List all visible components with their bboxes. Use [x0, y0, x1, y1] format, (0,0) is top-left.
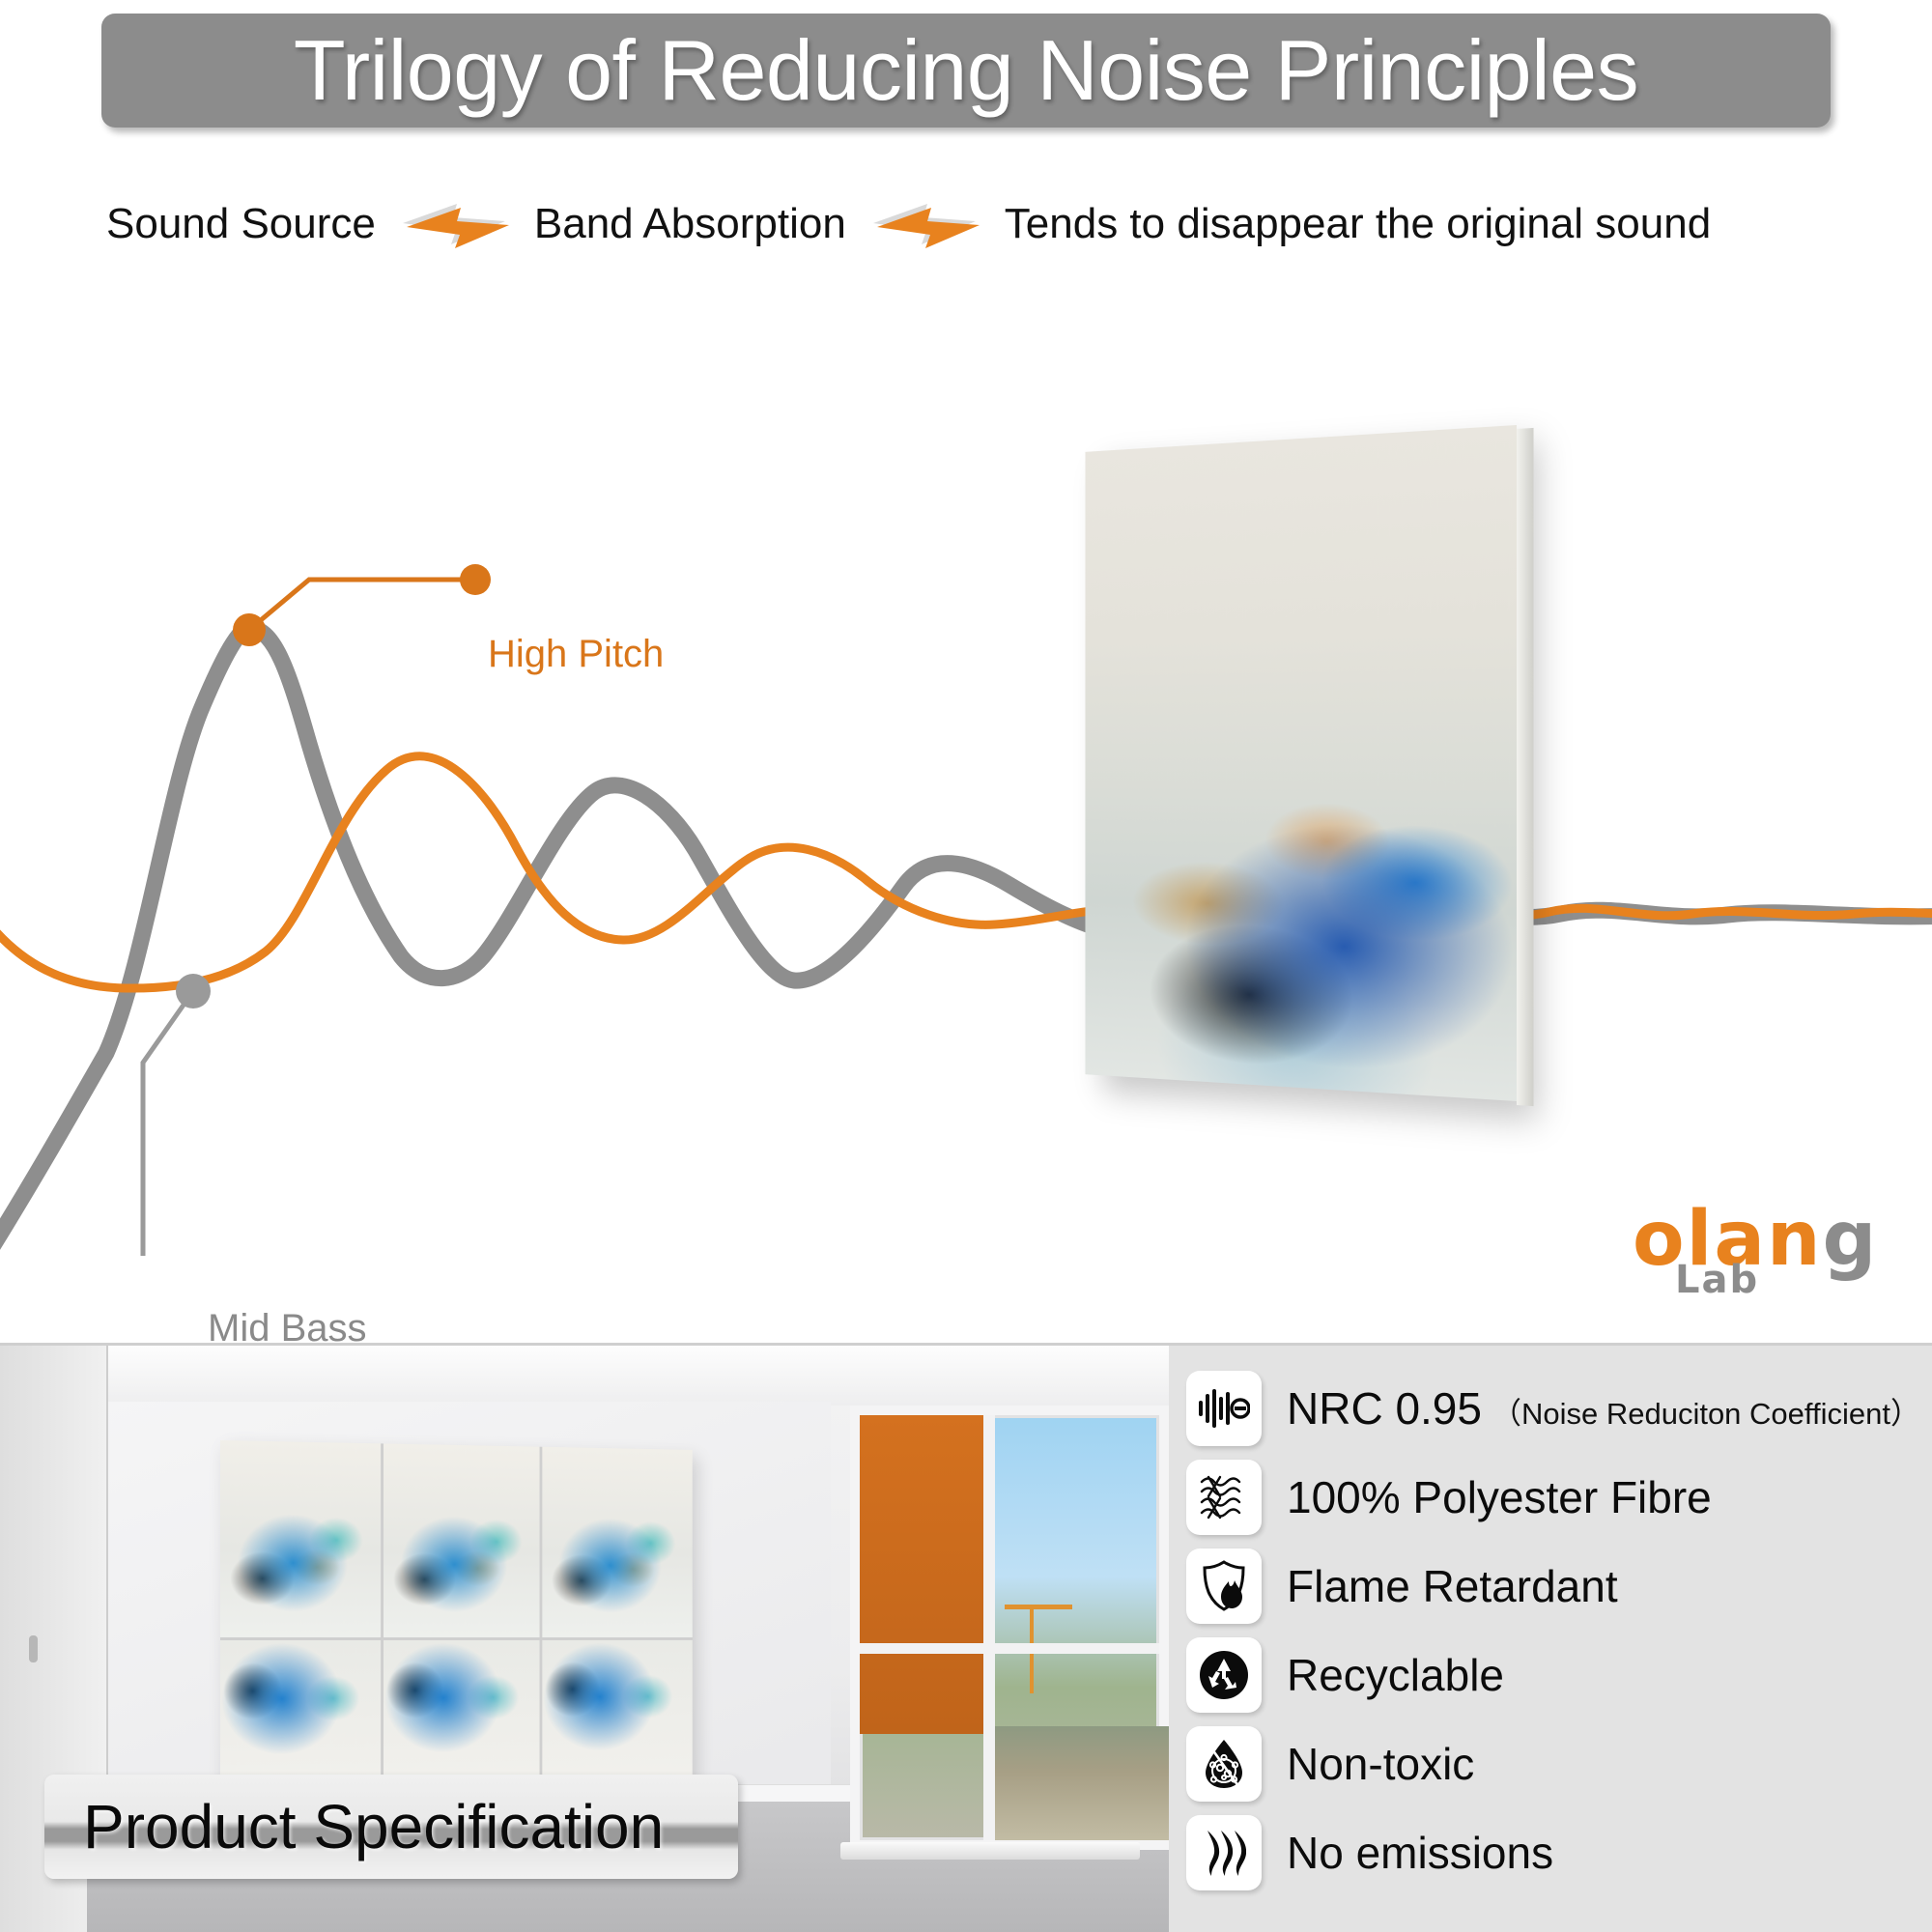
- page-title: Trilogy of Reducing Noise Principles: [294, 28, 1638, 113]
- shield-flame-icon: [1186, 1548, 1262, 1624]
- feature-label-nrc: NRC 0.95: [1287, 1386, 1482, 1431]
- feature-item-nontoxic: Non-toxic: [1186, 1724, 1920, 1804]
- product-specification-label: Product Specification: [83, 1796, 664, 1858]
- orange-arrow-icon: [401, 198, 509, 250]
- panel-tile: [384, 1443, 539, 1636]
- feature-text-flame: Flame Retardant: [1287, 1564, 1618, 1608]
- feature-list: NRC 0.95 （Noise Reduciton Coefficient）: [1186, 1369, 1920, 1919]
- feature-text-recyclable: Recyclable: [1287, 1653, 1504, 1697]
- logo-accent-letter: g: [1823, 1196, 1879, 1283]
- recycle-icon: [1186, 1637, 1262, 1713]
- brand-logo: olang Lab: [1633, 1206, 1893, 1321]
- feature-item-noemissions: No emissions: [1186, 1813, 1920, 1892]
- window-mullion-horizontal: [860, 1643, 1159, 1654]
- city-view: [989, 1726, 1169, 1840]
- feature-text-polyester: 100% Polyester Fibre: [1287, 1475, 1712, 1520]
- feature-label-polyester: 100% Polyester Fibre: [1287, 1475, 1712, 1520]
- flow-step-sound-source: Sound Source: [106, 203, 376, 245]
- sound-wave-icon: [1186, 1371, 1262, 1446]
- feature-label-nontoxic: Non-toxic: [1287, 1742, 1474, 1786]
- orange-accent-wall: [860, 1415, 983, 1734]
- process-flow: Sound Source Band Absorption Tends to di…: [106, 193, 1845, 255]
- feature-text-nontoxic: Non-toxic: [1287, 1742, 1474, 1786]
- feature-text-noemissions: No emissions: [1287, 1831, 1553, 1875]
- panel-artwork-face: [1085, 425, 1517, 1101]
- feature-item-flame: Flame Retardant: [1186, 1547, 1920, 1626]
- non-toxic-icon: [1186, 1726, 1262, 1802]
- feature-label-flame: Flame Retardant: [1287, 1564, 1618, 1608]
- orange-arrow-icon-2: [871, 198, 980, 250]
- door-handle: [29, 1635, 38, 1662]
- feature-item-nrc: NRC 0.95 （Noise Reduciton Coefficient）: [1186, 1369, 1920, 1448]
- feature-item-recyclable: Recyclable: [1186, 1635, 1920, 1715]
- no-emissions-icon: [1186, 1815, 1262, 1890]
- callout-label-mid-bass: Mid Bass: [208, 1309, 367, 1343]
- crane-arm: [1005, 1605, 1072, 1609]
- product-specification-banner: Product Specification: [44, 1775, 738, 1879]
- panel-side-edge: [1517, 428, 1534, 1106]
- panel-tile: [542, 1447, 693, 1637]
- feature-item-polyester: 100% Polyester Fibre: [1186, 1458, 1920, 1537]
- callout-leader-mid-bass: [127, 974, 211, 1256]
- specification-section: Product Specification N: [0, 1343, 1932, 1932]
- room-window: [850, 1406, 1169, 1850]
- hero-section: Trilogy of Reducing Noise Principles Sou…: [0, 0, 1932, 1343]
- acoustic-art-panel: [1085, 425, 1517, 1101]
- window-mullion-vertical: [983, 1415, 995, 1840]
- flow-step-band-absorption: Band Absorption: [534, 203, 846, 245]
- baseboard-heater: [840, 1842, 1140, 1860]
- feature-sub-nrc: （Noise Reduciton Coefficient）: [1492, 1399, 1920, 1429]
- panel-tile: [220, 1440, 381, 1637]
- series-mid-bass: [0, 628, 1932, 1256]
- callout-label-high-pitch: High Pitch: [488, 635, 664, 673]
- flow-step-disappear: Tends to disappear the original sound: [1005, 203, 1711, 245]
- room-installation-photo: Product Specification: [0, 1346, 1169, 1932]
- feature-text-nrc: NRC 0.95 （Noise Reduciton Coefficient）: [1287, 1386, 1920, 1431]
- feature-label-noemissions: No emissions: [1287, 1831, 1553, 1875]
- logo-wordmark: olang: [1633, 1206, 1893, 1273]
- title-bar: Trilogy of Reducing Noise Principles: [101, 14, 1831, 128]
- feature-label-recyclable: Recyclable: [1287, 1653, 1504, 1697]
- noise-wave-chart: High Pitch Mid Bass: [0, 290, 1932, 1256]
- fibre-waves-icon: [1186, 1460, 1262, 1535]
- room-ceiling: [97, 1346, 1169, 1406]
